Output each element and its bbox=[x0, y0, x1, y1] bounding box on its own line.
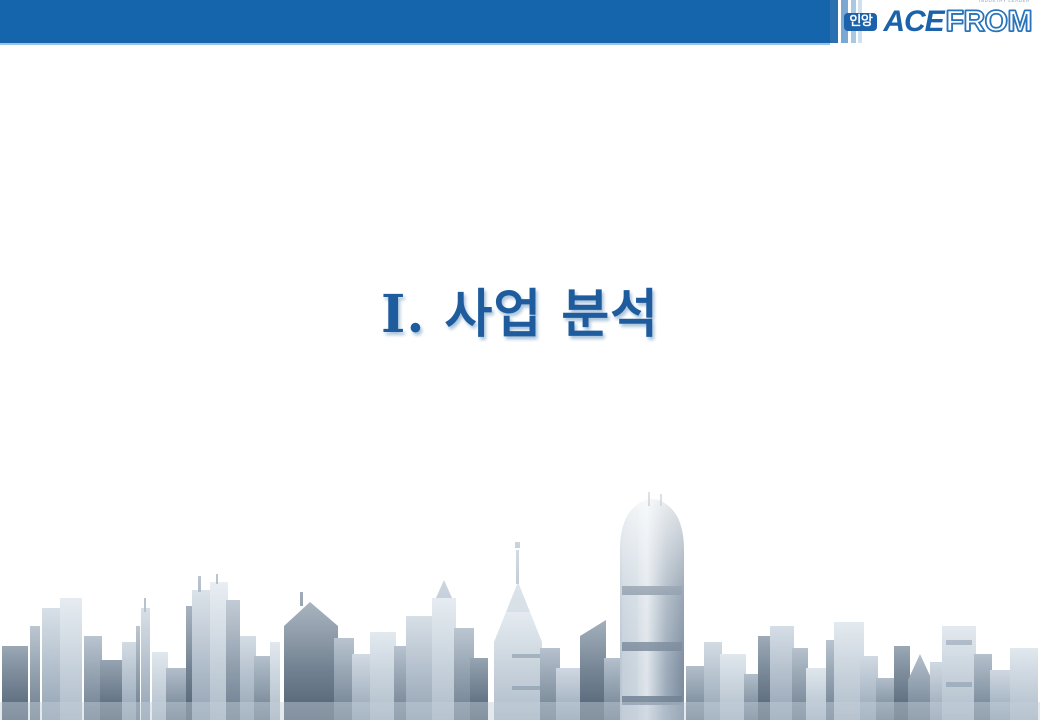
header-band-edge bbox=[0, 43, 830, 45]
logo-tagline: INDUSTRY LEADER bbox=[979, 0, 1030, 3]
logo-word-ace: ACE bbox=[883, 7, 943, 37]
section-title-area: Ⅰ. 사업 분석 bbox=[0, 272, 1040, 347]
header-blue-band bbox=[0, 0, 830, 43]
logo-korean-badge: 인앙 bbox=[844, 13, 877, 31]
slide-canvas: 인앙 ACE FROM INDUSTRY LEADER Ⅰ. 사업 분석 bbox=[0, 0, 1040, 720]
logo-wordmark: ACE FROM INDUSTRY LEADER bbox=[883, 7, 1032, 37]
company-logo: 인앙 ACE FROM INDUSTRY LEADER bbox=[844, 5, 1032, 39]
city-skyline-graphic bbox=[0, 430, 1040, 720]
section-title: Ⅰ. 사업 분석 bbox=[381, 272, 659, 347]
logo-word-from: FROM bbox=[946, 7, 1032, 37]
slide-header: 인앙 ACE FROM INDUSTRY LEADER bbox=[0, 0, 1040, 45]
city-skyline-illustration bbox=[0, 430, 1040, 720]
header-stripe-1 bbox=[830, 0, 838, 43]
